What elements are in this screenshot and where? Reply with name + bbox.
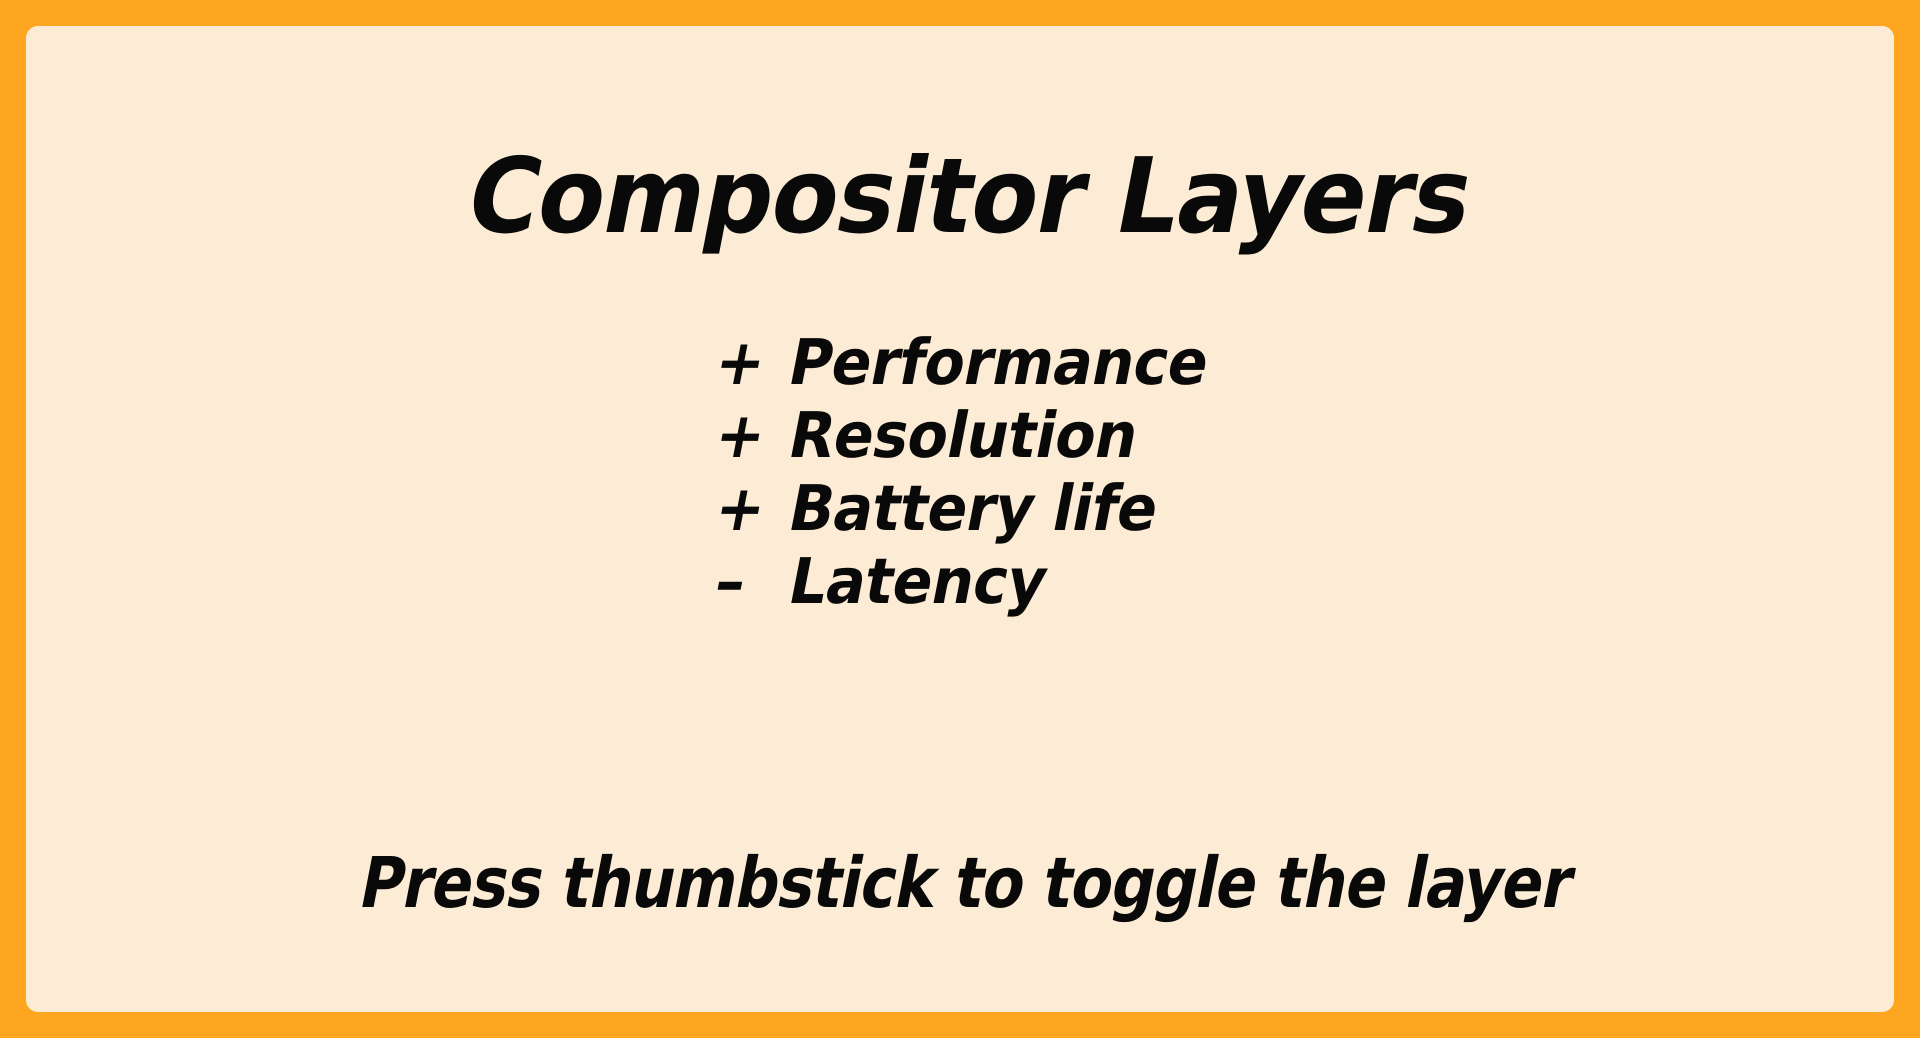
- list-item: – Latency: [709, 545, 1509, 618]
- benefit-label: Performance: [783, 326, 1232, 399]
- footer-hint-text: Press thumbstick to toggle the layer: [355, 848, 1580, 918]
- slide-card: Compositor Layers + Performance + Resolu…: [26, 26, 1894, 1012]
- benefit-label: Resolution: [783, 399, 1156, 472]
- benefit-sign-plus-icon: +: [709, 326, 783, 399]
- benefit-sign-text: –: [709, 545, 752, 618]
- list-item: + Performance: [709, 326, 1509, 399]
- benefit-label: Battery life: [783, 472, 1178, 545]
- list-item: + Battery life: [709, 472, 1509, 545]
- benefits-list: + Performance + Resolution + B: [709, 326, 1509, 618]
- benefit-sign-plus-icon: +: [709, 399, 783, 472]
- benefit-label-text: Performance: [783, 326, 1215, 399]
- slide-orange-frame: Compositor Layers + Performance + Resolu…: [0, 0, 1920, 1038]
- page-title-text: Compositor Layers: [460, 144, 1481, 248]
- footer-hint: Press thumbstick to toggle the layer: [26, 848, 1894, 918]
- benefit-label-text: Resolution: [783, 399, 1144, 472]
- benefit-sign-minus-icon: –: [709, 545, 783, 618]
- benefit-sign-text: +: [709, 399, 772, 472]
- benefit-sign-text: +: [709, 326, 772, 399]
- list-item: + Resolution: [709, 399, 1509, 472]
- benefit-label: Latency: [783, 545, 1058, 618]
- page-title: Compositor Layers: [26, 144, 1894, 248]
- benefit-sign-plus-icon: +: [709, 472, 783, 545]
- benefit-label-text: Latency: [783, 545, 1053, 618]
- benefit-label-text: Battery life: [783, 472, 1164, 545]
- benefit-sign-text: +: [709, 472, 772, 545]
